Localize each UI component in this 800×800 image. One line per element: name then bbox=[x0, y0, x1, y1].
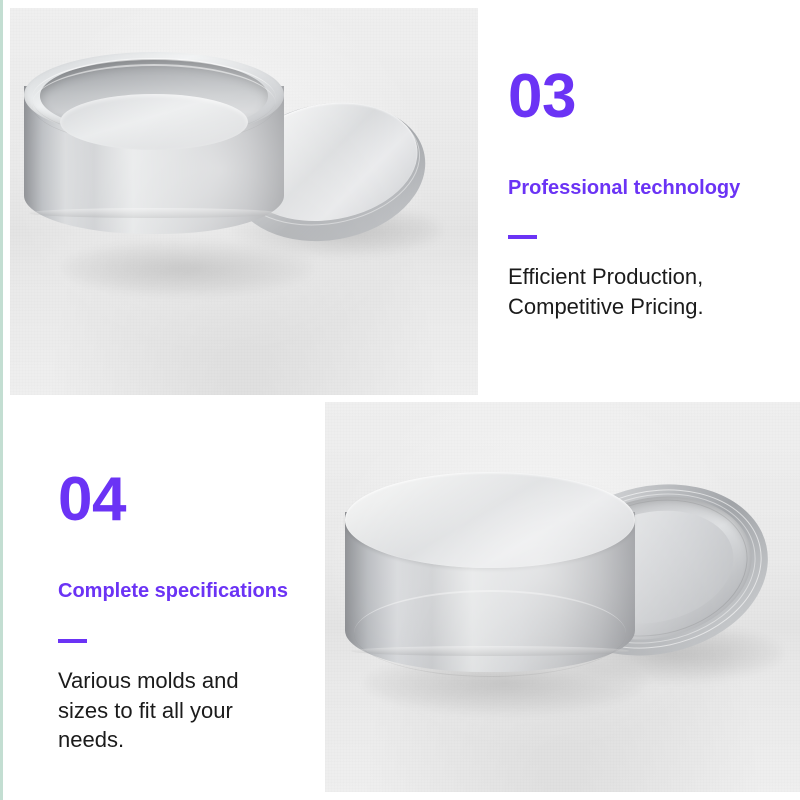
feature-description-04: Various molds and sizes to fit all your … bbox=[58, 666, 288, 755]
description-line: Various molds and bbox=[58, 666, 288, 696]
feature-number-04: 04 bbox=[58, 469, 288, 531]
feature-description-03: Efficient Production, Competitive Pricin… bbox=[508, 262, 740, 321]
photo-vignette-top bbox=[10, 8, 478, 395]
feature-block-04: 04 Complete specifications Various molds… bbox=[58, 469, 288, 755]
photo-vignette-bottom bbox=[325, 402, 800, 792]
feature-heading-03: Professional technology bbox=[508, 176, 740, 200]
description-line: Competitive Pricing. bbox=[508, 292, 740, 322]
product-photo-closed-tin bbox=[325, 402, 800, 792]
feature-divider-04 bbox=[58, 639, 87, 643]
feature-panels-page: 03 Professional technology Efficient Pro… bbox=[0, 0, 800, 800]
product-photo-open-tin bbox=[10, 8, 478, 395]
feature-heading-04: Complete specifications bbox=[58, 579, 288, 603]
description-line: sizes to fit all your bbox=[58, 696, 288, 726]
description-line: needs. bbox=[58, 725, 288, 755]
feature-divider-03 bbox=[508, 235, 537, 239]
feature-block-03: 03 Professional technology Efficient Pro… bbox=[508, 66, 740, 321]
description-line: Efficient Production, bbox=[508, 262, 740, 292]
feature-number-03: 03 bbox=[508, 66, 740, 128]
left-edge-accent-strip bbox=[0, 0, 3, 800]
